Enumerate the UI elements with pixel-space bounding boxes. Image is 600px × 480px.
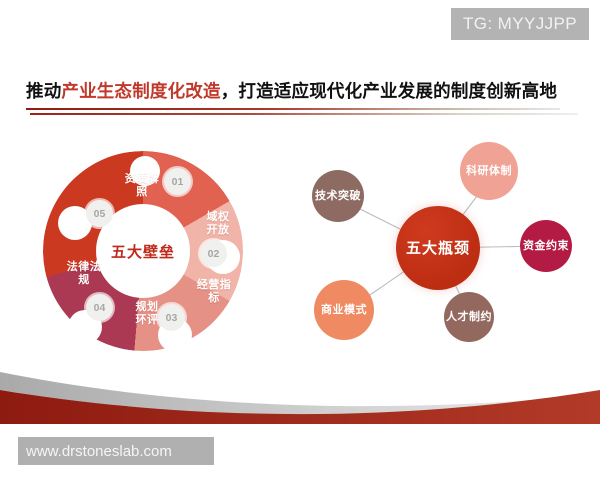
network-node-talent: 人才制约 <box>444 292 494 342</box>
network-node-label: 商业模式 <box>321 303 367 317</box>
network-node-label: 科研体制 <box>466 164 512 178</box>
network-node-technology: 技术突破 <box>312 170 364 222</box>
donut-segment-label-03: 经营指标 <box>196 278 232 304</box>
title-highlight: 产业生态制度化改造 <box>61 82 220 102</box>
network-node-label: 资金约束 <box>523 239 569 253</box>
donut-badge-04: 04 <box>86 294 113 321</box>
title-text: 推动产业生态制度化改造，打造适应现代化产业发展的制度创新高地 <box>26 78 574 103</box>
donut-center: 五大壁垒 <box>99 207 187 295</box>
page-title: 推动产业生态制度化改造，打造适应现代化产业发展的制度创新高地 <box>26 78 574 103</box>
five-barriers-donut: 资质牌照 域权开放 经营指标 规划环评 法律法规 01 02 03 04 05 … <box>38 148 248 353</box>
network-node-research-system: 科研体制 <box>460 142 518 200</box>
telegram-watermark: TG: MYYJJPP <box>451 8 589 40</box>
network-center-label: 五大瓶颈 <box>406 239 470 258</box>
title-rule-top <box>26 108 560 110</box>
donut-center-label: 五大壁垒 <box>111 241 175 262</box>
donut-segment-label-02: 域权开放 <box>202 210 234 236</box>
donut-badge-01: 01 <box>164 168 191 195</box>
donut-badge-03: 03 <box>158 304 185 331</box>
title-prefix: 推动 <box>26 82 61 102</box>
five-bottlenecks-network: 技术突破 科研体制 资金约束 人才制约 商业模式 五大瓶颈 <box>292 140 588 360</box>
network-node-funding: 资金约束 <box>520 220 572 272</box>
network-node-business-model: 商业模式 <box>314 280 374 340</box>
title-rule-bottom <box>30 113 578 115</box>
donut-badge-02: 02 <box>200 240 227 267</box>
site-watermark: www.drstoneslab.com <box>18 437 214 465</box>
footer-wave <box>0 364 600 424</box>
donut-segment-label-01: 资质牌照 <box>124 172 160 198</box>
telegram-watermark-text: TG: MYYJJPP <box>463 14 577 34</box>
donut-segment-label-05: 法律法规 <box>66 260 102 286</box>
network-center-node: 五大瓶颈 <box>396 206 480 290</box>
title-suffix: ，打造适应现代化产业发展的制度创新高地 <box>221 82 557 102</box>
slide-canvas: TG: MYYJJPP 推动产业生态制度化改造，打造适应现代化产业发展的制度创新… <box>0 0 600 480</box>
network-node-label: 技术突破 <box>315 189 361 203</box>
network-node-label: 人才制约 <box>446 310 492 324</box>
site-watermark-text: www.drstoneslab.com <box>26 443 172 460</box>
